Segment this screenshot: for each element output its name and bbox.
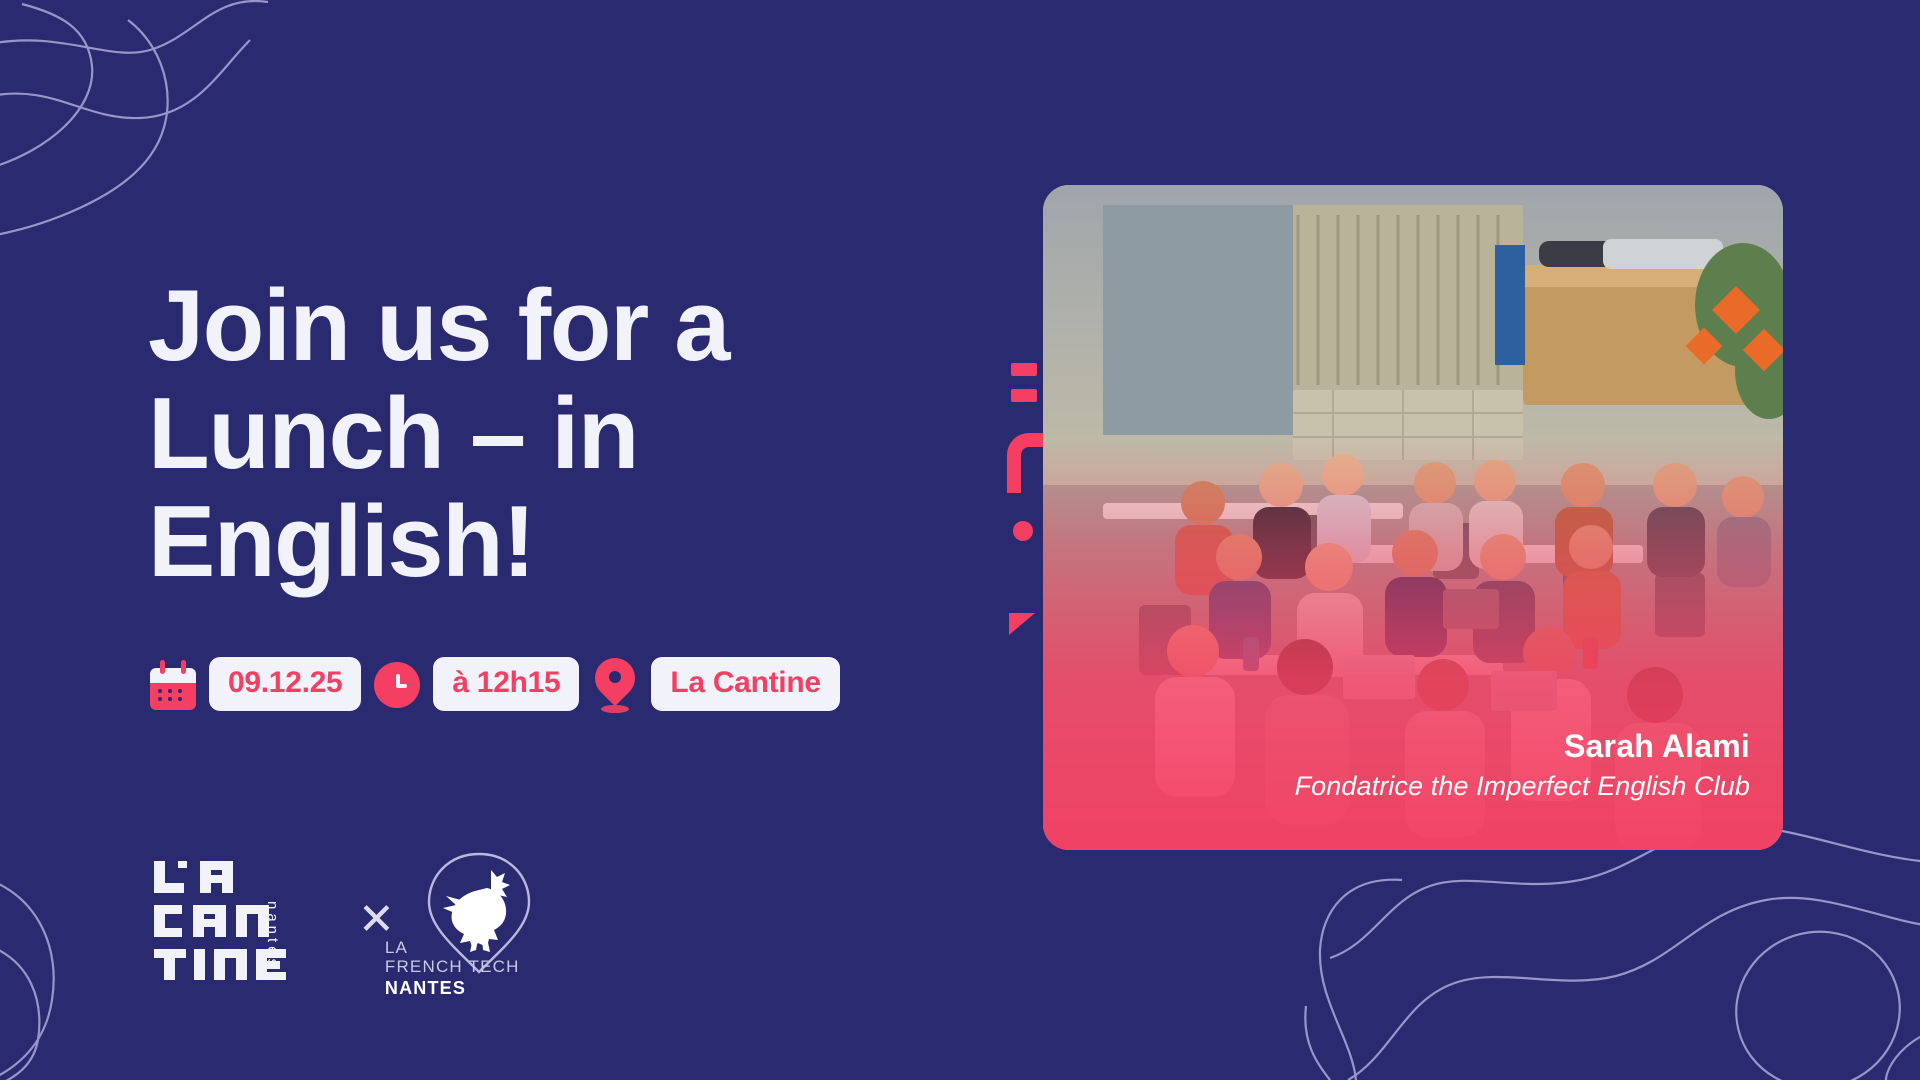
headline-line-2: Lunch – in	[148, 380, 908, 488]
french-tech-logo: LA FRENCH TECH NANTES	[417, 850, 542, 990]
event-photo: Sarah Alami Fondatrice the Imperfect Eng…	[1043, 185, 1783, 850]
french-tech-line-1: LA	[385, 938, 545, 957]
event-time-badge: à 12h15	[433, 657, 579, 711]
la-cantine-nantes-label: nantes	[264, 901, 281, 970]
headline-line-1: Join us for a	[148, 272, 908, 380]
location-pin-icon	[592, 656, 638, 712]
speaker-name: Sarah Alami	[1295, 726, 1750, 766]
speaker-role: Fondatrice the Imperfect English Club	[1295, 769, 1750, 804]
logo-separator-icon: ✕	[358, 898, 395, 942]
headline-line-3: English!	[148, 488, 908, 596]
page-title: Join us for a Lunch – in English!	[148, 272, 908, 596]
clock-icon	[374, 656, 420, 712]
french-tech-line-2: FRENCH TECH	[385, 957, 545, 976]
partner-logos: nantes ✕ LA FRENCH TECH NANTES	[148, 850, 542, 990]
event-date-badge: 09.12.25	[209, 657, 361, 711]
la-cantine-wordmark	[148, 855, 328, 985]
la-cantine-logo: nantes	[148, 855, 328, 985]
calendar-icon	[150, 656, 196, 712]
speaker-caption: Sarah Alami Fondatrice the Imperfect Eng…	[1295, 726, 1750, 804]
left-content-column: Join us for a Lunch – in English! 09.12.…	[148, 0, 928, 1080]
speaker-photo-card: Sarah Alami Fondatrice the Imperfect Eng…	[1043, 185, 1783, 850]
event-info-badges: 09.12.25 à 12h15 La Cantine	[150, 656, 840, 712]
french-tech-line-3: NANTES	[385, 978, 545, 998]
event-location-badge: La Cantine	[651, 657, 839, 711]
